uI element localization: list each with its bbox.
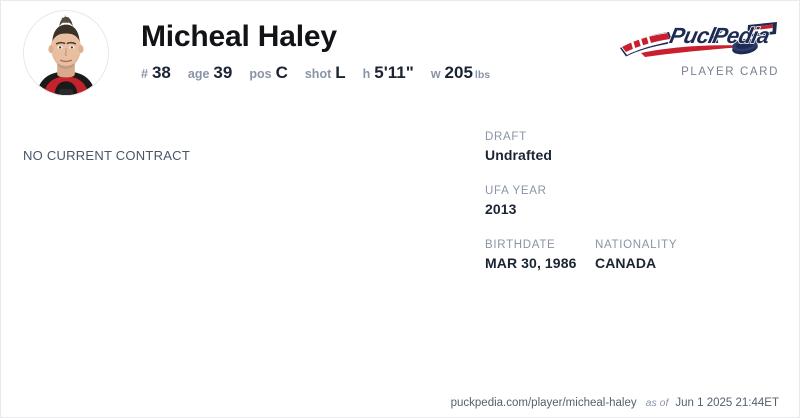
logo-wordmark-pedia: Pedia: [710, 23, 772, 48]
birthdate-value: MAR 30, 1986: [485, 255, 595, 271]
stat-position-label: pos: [249, 67, 271, 81]
player-headshot-image: [24, 11, 108, 95]
stat-height-value: 5'11": [374, 63, 414, 83]
info-row-birth-nationality: BIRTHDATE MAR 30, 1986 NATIONALITY CANAD…: [485, 239, 785, 271]
player-info-panel: DRAFT Undrafted UFA YEAR 2013 BIRTHDATE …: [485, 131, 785, 271]
stat-position: pos C: [249, 63, 288, 83]
stat-age: age 39: [188, 63, 232, 83]
stat-weight-unit: lbs: [475, 69, 490, 81]
stat-age-label: age: [188, 67, 210, 81]
nationality-value: CANADA: [595, 255, 705, 271]
draft-value: Undrafted: [485, 147, 675, 163]
draft-label: DRAFT: [485, 131, 675, 143]
ufa-year-value: 2013: [485, 201, 675, 217]
birthdate-label: BIRTHDATE: [485, 239, 595, 251]
stat-height-label: h: [363, 67, 371, 81]
player-avatar: [23, 10, 109, 96]
stat-shot-value: L: [335, 63, 345, 83]
puckpedia-logo[interactable]: Puck Pedia PLAYER CARD: [609, 17, 779, 78]
stat-position-value: C: [276, 63, 288, 83]
contract-status: NO CURRENT CONTRACT: [23, 148, 190, 163]
player-card: Micheal Haley # 38 age 39 pos C shot L h…: [0, 0, 800, 418]
stat-weight-label: w: [431, 67, 441, 81]
stat-number-value: 38: [152, 63, 171, 83]
card-footer: puckpedia.com/player/micheal-haley as of…: [451, 397, 779, 409]
info-row-ufa-year: UFA YEAR 2013: [485, 185, 785, 217]
as-of-label: as of: [646, 397, 669, 409]
stat-number: # 38: [141, 63, 171, 83]
card-header: Micheal Haley # 38 age 39 pos C shot L h…: [1, 1, 800, 111]
stat-shot: shot L: [305, 63, 346, 83]
info-cell-ufa-year: UFA YEAR 2013: [485, 185, 675, 217]
stat-weight: w 205 lbs: [431, 63, 490, 83]
info-row-draft: DRAFT Undrafted: [485, 131, 785, 163]
info-cell-birthdate: BIRTHDATE MAR 30, 1986: [485, 239, 595, 271]
stat-weight-value: 205: [445, 63, 473, 83]
stat-age-value: 39: [213, 63, 232, 83]
logo-subtitle: PLAYER CARD: [609, 66, 779, 78]
nationality-label: NATIONALITY: [595, 239, 705, 251]
info-cell-draft: DRAFT Undrafted: [485, 131, 675, 163]
stat-height: h 5'11": [363, 63, 414, 83]
player-stat-row: # 38 age 39 pos C shot L h 5'11" w 205: [141, 63, 490, 83]
info-cell-nationality: NATIONALITY CANADA: [595, 239, 705, 271]
source-url[interactable]: puckpedia.com/player/micheal-haley: [451, 397, 637, 409]
ufa-year-label: UFA YEAR: [485, 185, 675, 197]
stat-number-label: #: [141, 67, 148, 81]
player-name-block: Micheal Haley: [141, 19, 337, 55]
puckpedia-logo-icon: Puck Pedia: [619, 17, 779, 61]
stat-shot-label: shot: [305, 67, 331, 81]
as-of-timestamp: Jun 1 2025 21:44ET: [675, 397, 779, 409]
page-title: Micheal Haley: [141, 19, 337, 55]
